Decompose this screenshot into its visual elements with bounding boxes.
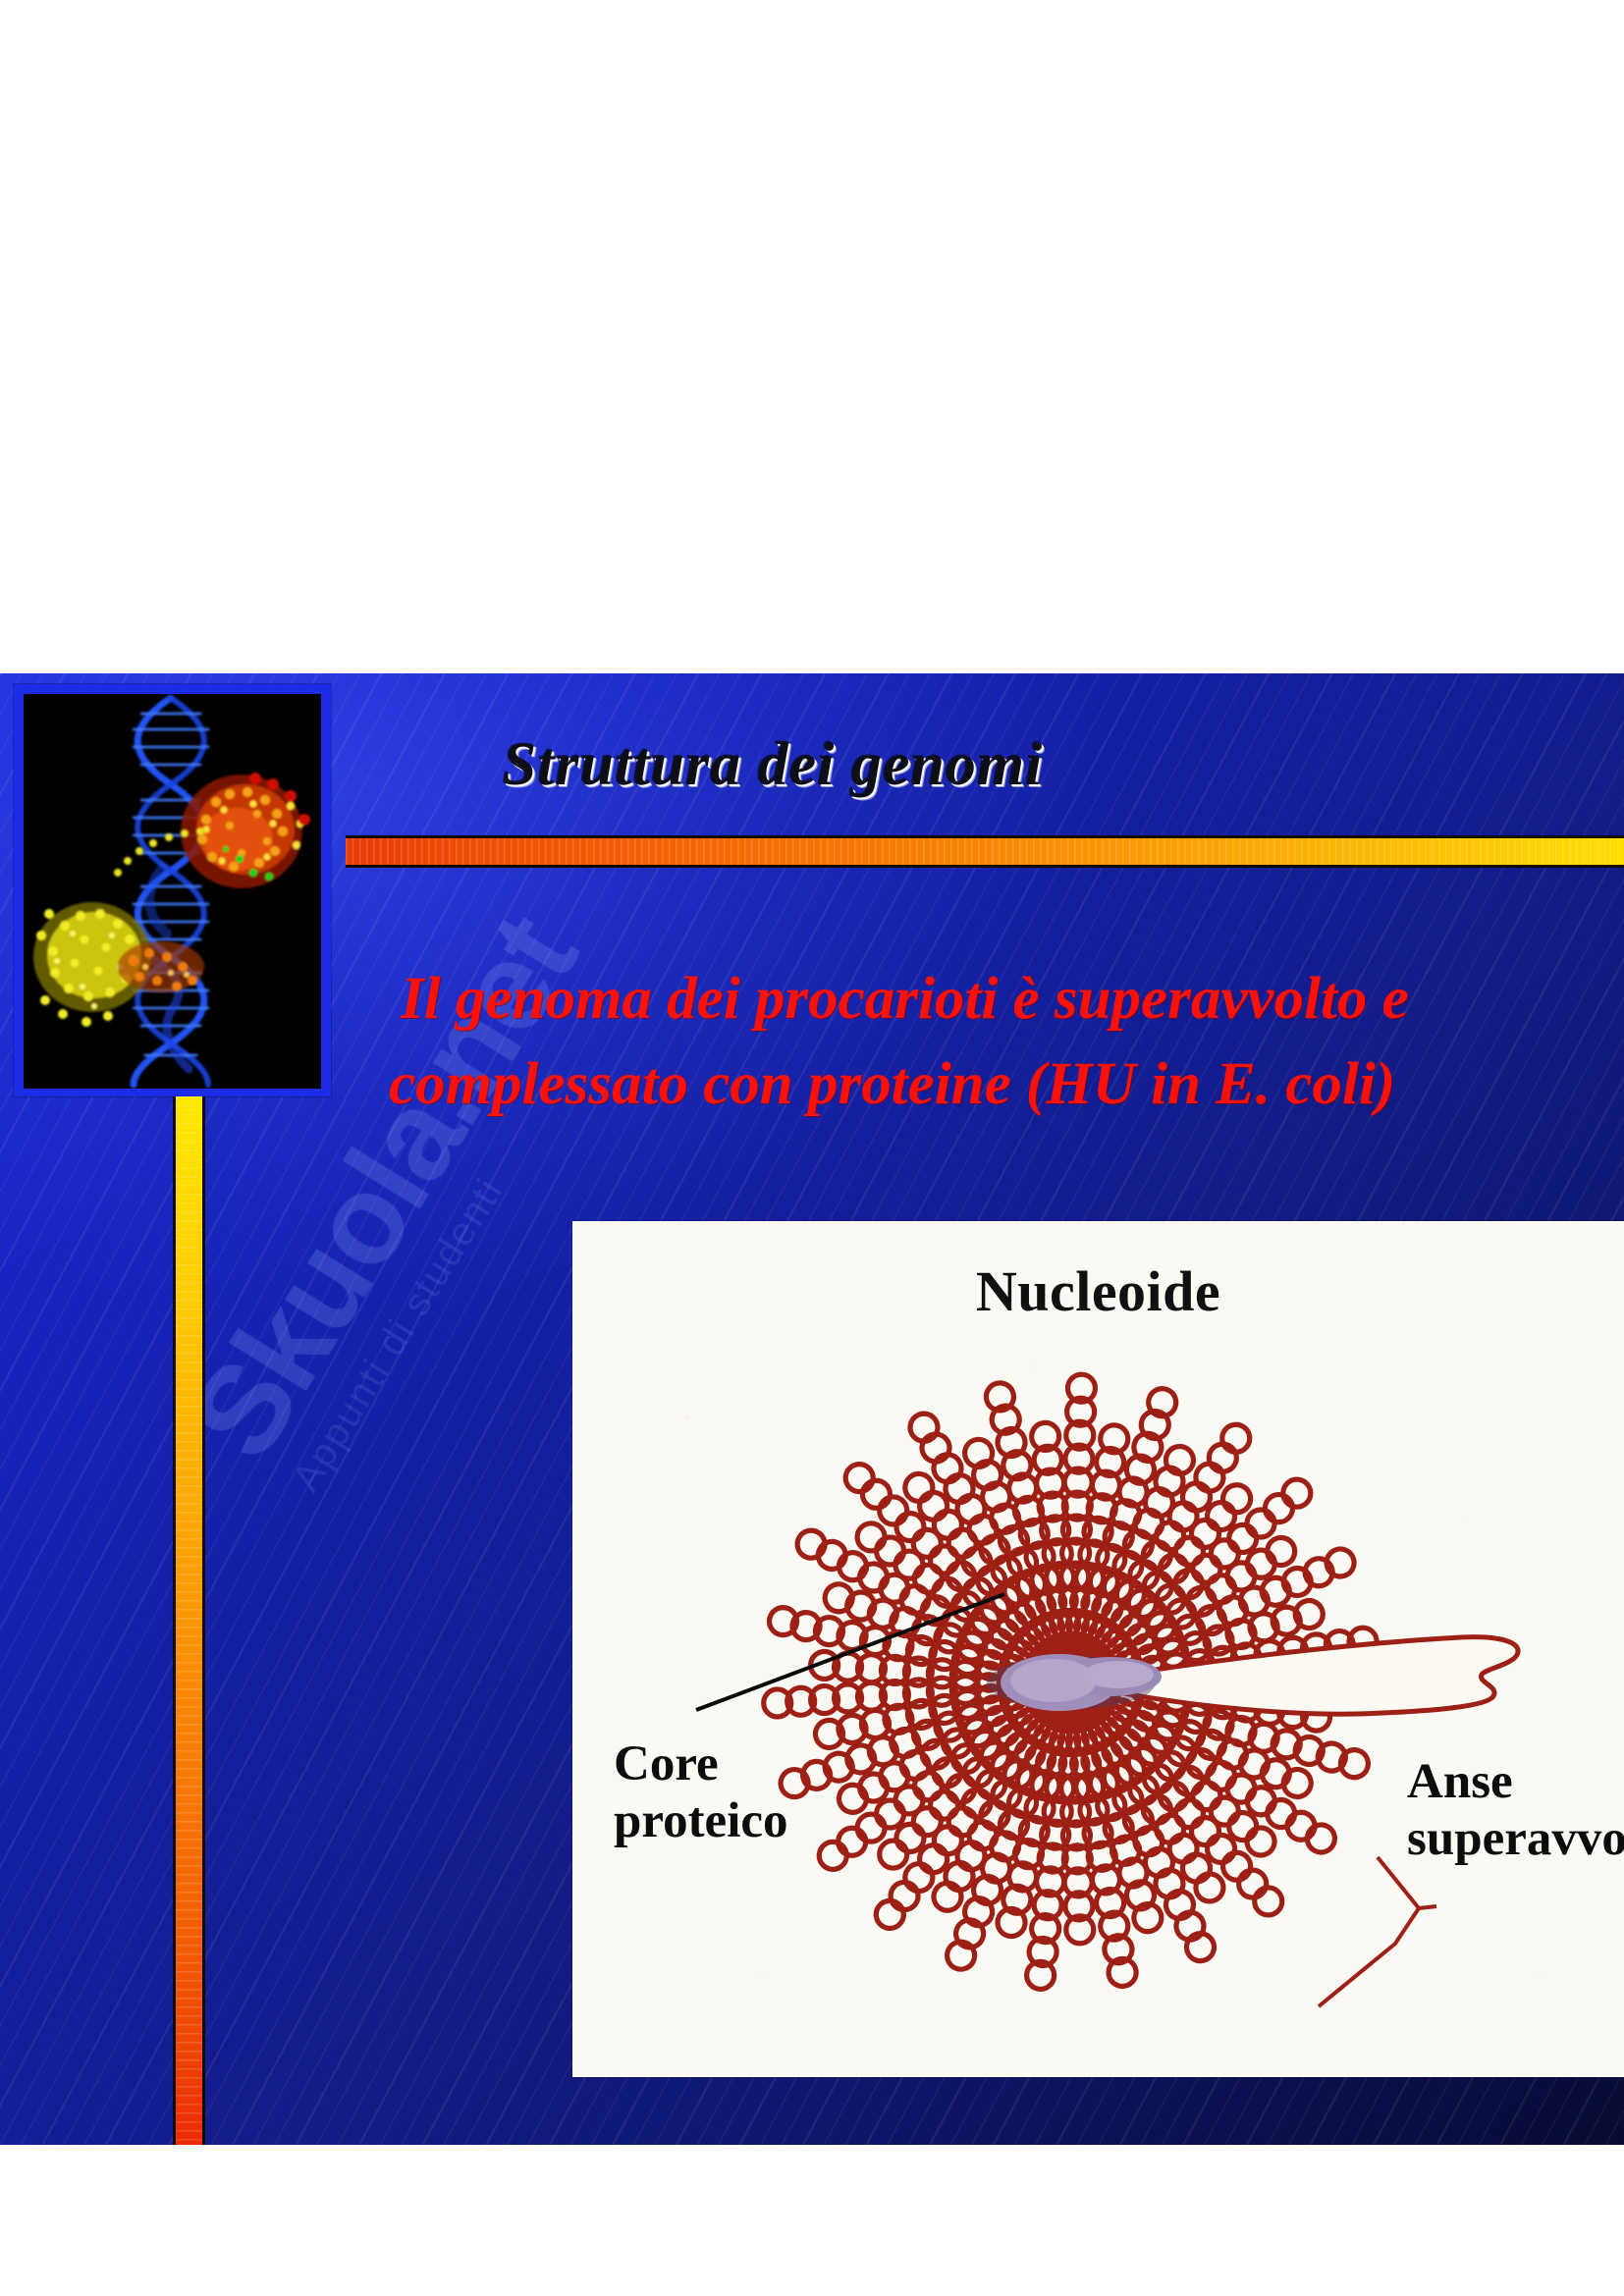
label-core-proteico: Core proteico (614, 1735, 788, 1849)
anse-pointer-bracket (1319, 1857, 1419, 2006)
figure-title: Nucleoide (572, 1258, 1624, 1324)
label-anse-line-2: superavvolte (1407, 1810, 1624, 1867)
label-anse-line-1: Anse (1407, 1753, 1624, 1810)
dna-protein-complex-image (24, 694, 321, 1089)
nucleoid-diagram (572, 1221, 1624, 2077)
nucleoid-figure-panel: Nucleoide Core proteico Anse superavvolt… (572, 1221, 1624, 2077)
horizontal-accent-bar (346, 835, 1624, 868)
label-anse-superavvolte: Anse superavvolte (1407, 1753, 1624, 1867)
label-core-line-1: Core (614, 1735, 788, 1792)
dna-protein-thumbnail-frame (14, 684, 331, 1096)
slide-page: Skuola.net Appunti di studenti (0, 0, 1624, 2296)
label-core-line-2: proteico (614, 1792, 788, 1849)
vertical-accent-bar (173, 1096, 205, 2145)
